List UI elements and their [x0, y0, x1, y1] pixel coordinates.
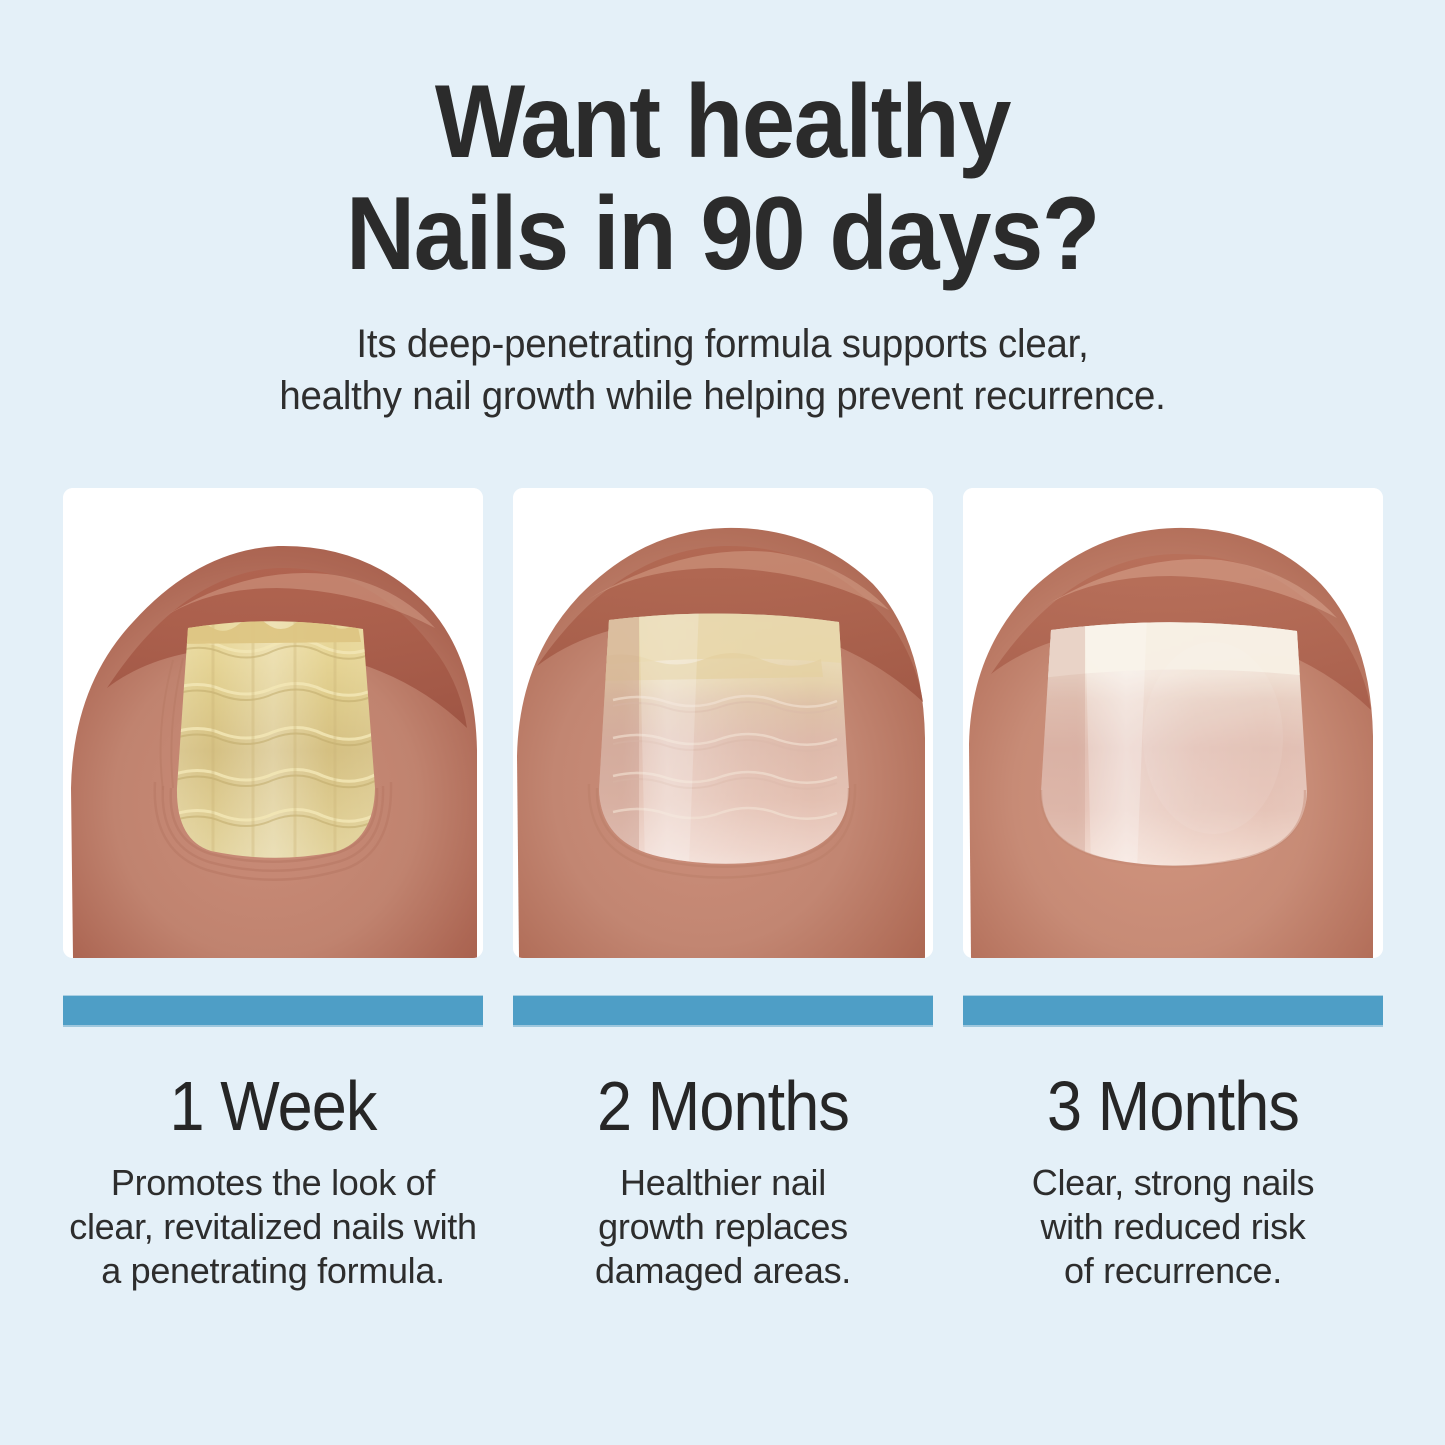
stage-description-1-week: Promotes the look of clear, revitalized …: [63, 1161, 483, 1293]
stage-label-2-months: 2 Months: [534, 1069, 912, 1143]
stage-panel-1-week: 1 Week Promotes the look of clear, revit…: [63, 488, 483, 1293]
stage-label-1-week: 1 Week: [84, 1069, 462, 1143]
page-title: Want healthy Nails in 90 days?: [58, 66, 1387, 290]
subtitle-line-2: healthy nail growth while helping preven…: [29, 370, 1416, 422]
toenail-improving-illustration-icon: [513, 488, 933, 958]
stage-progress-bar-3-months: [963, 995, 1383, 1027]
stage-description-2-months: Healthier nail growth replaces damaged a…: [513, 1161, 933, 1293]
header: Want healthy Nails in 90 days? Its deep-…: [0, 0, 1445, 422]
toenail-healthy-illustration-icon: [963, 488, 1383, 958]
title-line-2: Nails in 90 days?: [58, 178, 1387, 290]
stage-panel-3-months: 3 Months Clear, strong nails with reduce…: [963, 488, 1383, 1293]
stage-panel-2-months: 2 Months Healthier nail growth replaces …: [513, 488, 933, 1293]
title-line-1: Want healthy: [58, 66, 1387, 178]
toenail-fungal-illustration-icon: [63, 488, 483, 958]
stage-progress-bar-2-months: [513, 995, 933, 1027]
page-subtitle: Its deep-penetrating formula supports cl…: [29, 318, 1416, 422]
progression-panels: 1 Week Promotes the look of clear, revit…: [63, 488, 1383, 1293]
stage-label-3-months: 3 Months: [984, 1069, 1362, 1143]
subtitle-line-1: Its deep-penetrating formula supports cl…: [29, 318, 1416, 370]
nail-image-card-2-months: [513, 488, 933, 958]
nail-image-card-1-week: [63, 488, 483, 958]
stage-progress-bar-1-week: [63, 995, 483, 1027]
stage-description-3-months: Clear, strong nails with reduced risk of…: [963, 1161, 1383, 1293]
nail-image-card-3-months: [963, 488, 1383, 958]
